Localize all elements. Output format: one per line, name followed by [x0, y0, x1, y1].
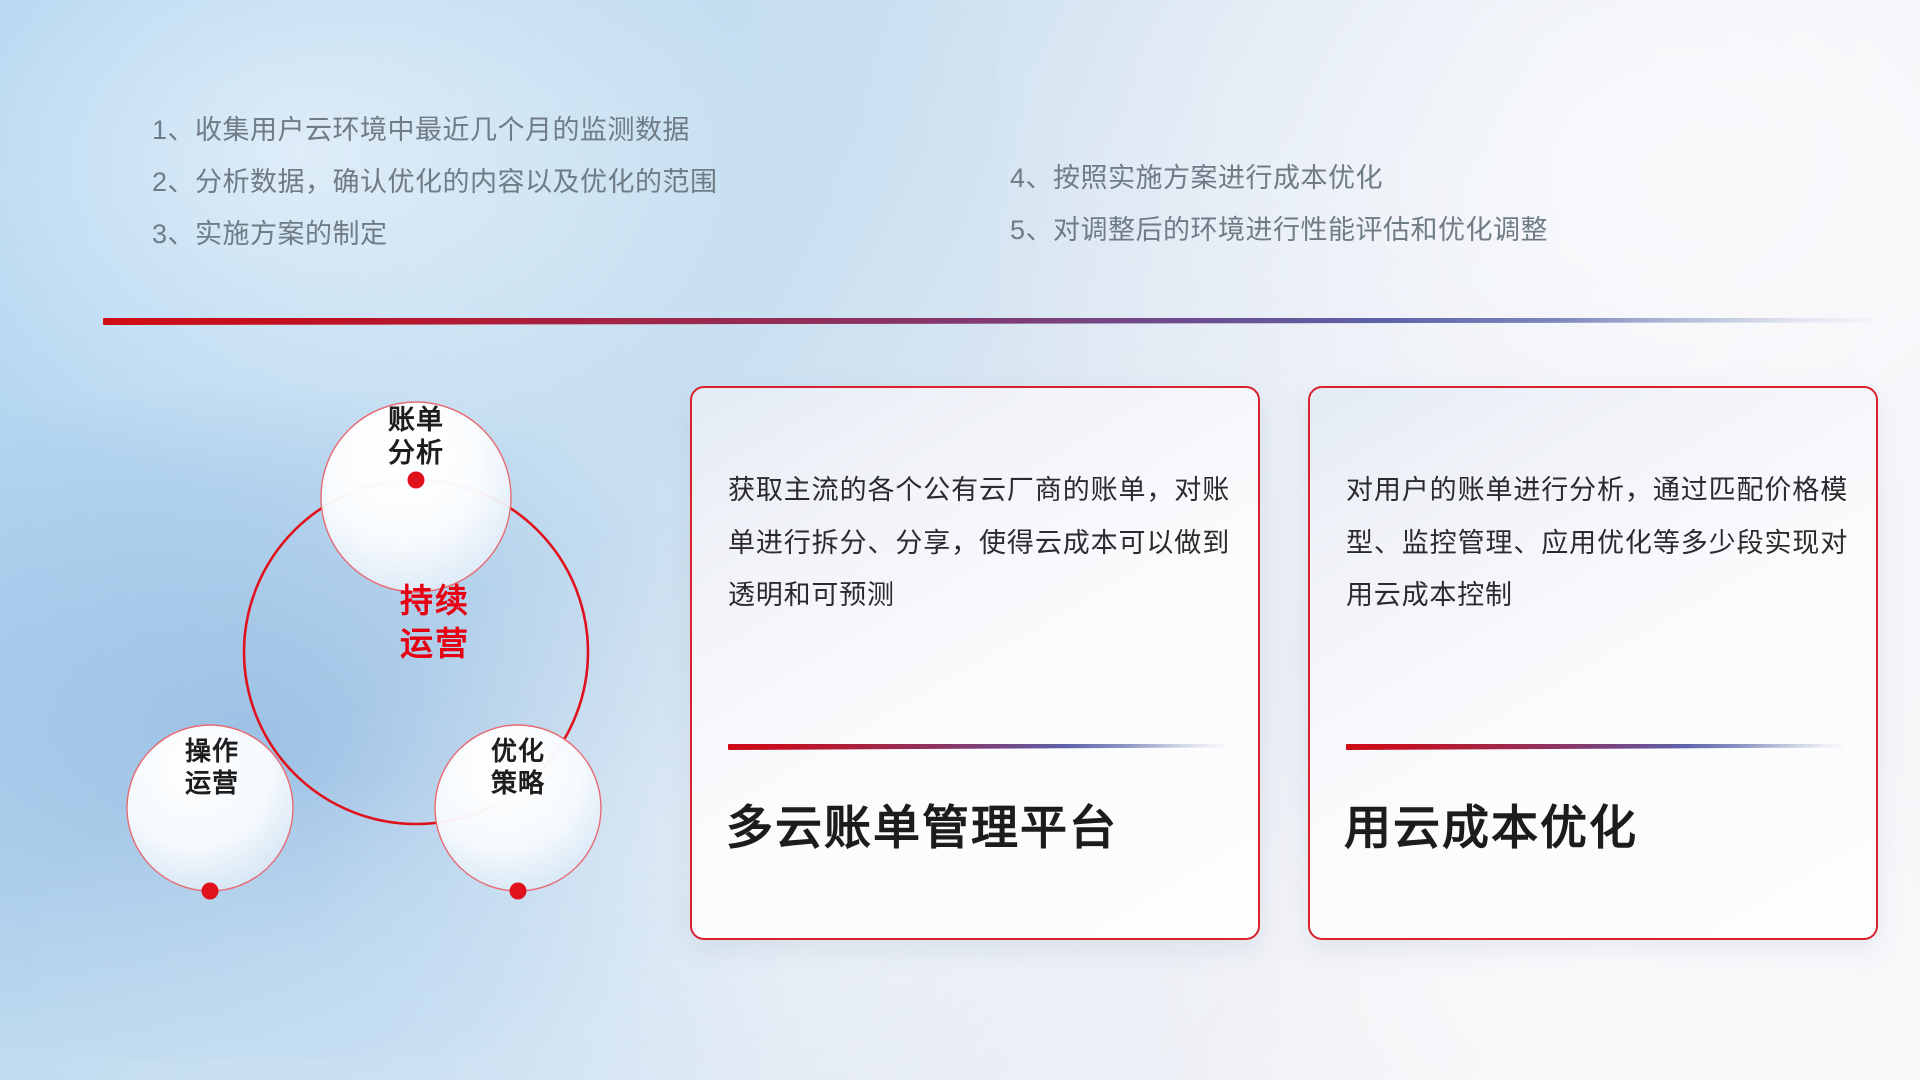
venn-dot-southwest [202, 883, 219, 900]
card-title: 多云账单管理平台 [726, 800, 1234, 856]
list-item: 4、按照实施方案进行成本优化 [1010, 152, 1548, 204]
list-item-number: 3、 [152, 219, 195, 249]
card-title: 用云成本优化 [1344, 800, 1852, 856]
steps-list-left: 1、收集用户云环境中最近几个月的监测数据 2、分析数据，确认优化的内容以及优化的… [152, 104, 718, 260]
list-item-text: 按照实施方案进行成本优化 [1053, 163, 1383, 193]
venn-dot-north [408, 472, 425, 489]
card-divider [1346, 744, 1844, 750]
list-item-text: 分析数据，确认优化的内容以及优化的范围 [195, 167, 718, 197]
list-item: 3、实施方案的制定 [152, 208, 718, 260]
venn-diagram: 账单 分析 操作 运营 优化 策略 持续 运营 [100, 352, 640, 932]
venn-label-top: 账单 分析 [346, 404, 486, 470]
list-item-number: 2、 [152, 167, 195, 197]
card-divider [728, 744, 1226, 750]
card-body-text: 获取主流的各个公有云厂商的账单，对账单进行拆分、分享，使得云成本可以做到透明和可… [728, 464, 1230, 622]
list-item-number: 5、 [1010, 215, 1053, 245]
venn-label-center: 持续 运营 [355, 580, 515, 666]
list-item-text: 收集用户云环境中最近几个月的监测数据 [195, 115, 690, 145]
list-item-text: 对调整后的环境进行性能评估和优化调整 [1053, 215, 1548, 245]
info-card-multicloud-billing[interactable]: 获取主流的各个公有云厂商的账单，对账单进行拆分、分享，使得云成本可以做到透明和可… [690, 386, 1260, 940]
section-divider [103, 318, 1873, 325]
list-item: 5、对调整后的环境进行性能评估和优化调整 [1010, 204, 1548, 256]
list-item-number: 4、 [1010, 163, 1053, 193]
venn-dot-southeast [510, 883, 527, 900]
card-body-text: 对用户的账单进行分析，通过匹配价格模型、监控管理、应用优化等多少段实现对用云成本… [1346, 464, 1848, 622]
list-item: 2、分析数据，确认优化的内容以及优化的范围 [152, 156, 718, 208]
list-item-number: 1、 [152, 115, 195, 145]
list-item: 1、收集用户云环境中最近几个月的监测数据 [152, 104, 718, 156]
list-item-text: 实施方案的制定 [195, 219, 388, 249]
venn-label-right: 优化 策略 [448, 736, 588, 799]
steps-list-right: 4、按照实施方案进行成本优化 5、对调整后的环境进行性能评估和优化调整 [1010, 152, 1548, 256]
venn-label-left: 操作 运营 [142, 736, 282, 799]
info-card-cloud-cost-optimization[interactable]: 对用户的账单进行分析，通过匹配价格模型、监控管理、应用优化等多少段实现对用云成本… [1308, 386, 1878, 940]
